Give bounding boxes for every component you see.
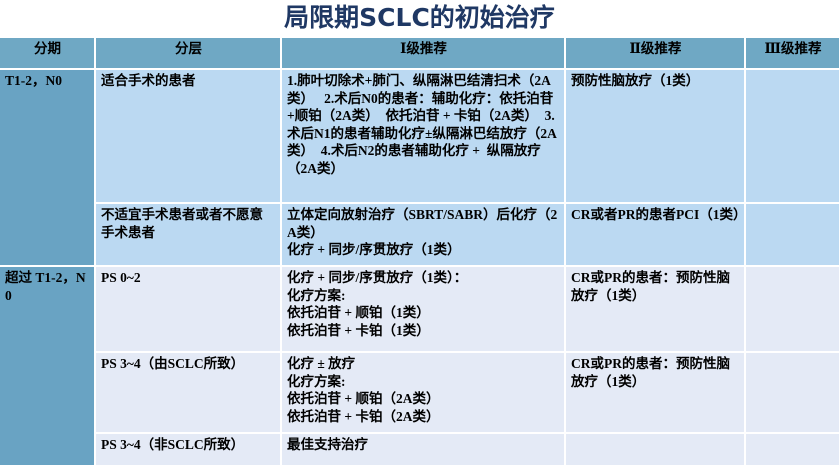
level2-text: CR或者PR的患者PCI（1类） — [571, 206, 740, 224]
level3-cell — [745, 266, 839, 352]
level3-cell — [745, 352, 839, 433]
stratum-cell: PS 0~2 — [95, 266, 281, 352]
level3-cell — [745, 203, 839, 266]
stratum-cell: PS 3~4（非SCLC所致） — [95, 433, 281, 466]
slide-page: 局限期SCLC的初始治疗 分期 分层 Ⅰ级推荐 Ⅱ级推荐 Ⅲ级推荐 T1-2，N… — [0, 0, 839, 463]
level2-text: CR或PR的患者：预防性脑放疗（1类） — [571, 269, 740, 304]
level1-text: 化疗 ± 放疗 化疗方案: 依托泊苷 + 顺铂（2A类） 依托泊苷 + 卡铂（2… — [287, 355, 560, 425]
stage-label: 超过 T1-2，N0 — [5, 269, 90, 304]
stratum-label: 适合手术的患者 — [101, 72, 276, 90]
stage-label: T1-2，N0 — [5, 72, 90, 90]
level1-cell: 化疗 + 同步/序贯放疗（1类）： 化疗方案: 依托泊苷 + 顺铂（1类） 依托… — [281, 266, 565, 352]
stratum-label: PS 0~2 — [101, 269, 276, 287]
column-header-level2: Ⅱ级推荐 — [565, 38, 745, 69]
table-row: PS 3~4（由SCLC所致） 化疗 ± 放疗 化疗方案: 依托泊苷 + 顺铂（… — [0, 352, 839, 433]
table-row: 超过 T1-2，N0 PS 0~2 化疗 + 同步/序贯放疗（1类）： 化疗方案… — [0, 266, 839, 352]
stratum-label: PS 3~4（非SCLC所致） — [101, 436, 276, 454]
stratum-label: 不适宜手术患者或者不愿意手术患者 — [101, 206, 276, 241]
level2-text: CR或PR的患者：预防性脑放疗（1类） — [571, 355, 740, 390]
page-title: 局限期SCLC的初始治疗 — [0, 0, 839, 38]
level2-cell: CR或者PR的患者PCI（1类） — [565, 203, 745, 266]
stratum-label: PS 3~4（由SCLC所致） — [101, 355, 276, 373]
stage-cell: T1-2，N0 — [0, 69, 95, 266]
stratum-cell: 适合手术的患者 — [95, 69, 281, 203]
level2-cell: CR或PR的患者：预防性脑放疗（1类） — [565, 352, 745, 433]
level1-cell: 化疗 ± 放疗 化疗方案: 依托泊苷 + 顺铂（2A类） 依托泊苷 + 卡铂（2… — [281, 352, 565, 433]
table-header-row: 分期 分层 Ⅰ级推荐 Ⅱ级推荐 Ⅲ级推荐 — [0, 38, 839, 69]
level2-cell: 预防性脑放疗（1类） — [565, 69, 745, 203]
level1-text: 化疗 + 同步/序贯放疗（1类）： 化疗方案: 依托泊苷 + 顺铂（1类） 依托… — [287, 269, 560, 339]
stratum-cell: 不适宜手术患者或者不愿意手术患者 — [95, 203, 281, 266]
level3-cell — [745, 69, 839, 203]
table-row: PS 3~4（非SCLC所致） 最佳支持治疗 — [0, 433, 839, 466]
stratum-cell: PS 3~4（由SCLC所致） — [95, 352, 281, 433]
level2-text: 预防性脑放疗（1类） — [571, 72, 740, 90]
level1-text: 最佳支持治疗 — [287, 436, 560, 454]
column-header-stage: 分期 — [0, 38, 95, 69]
level1-cell: 最佳支持治疗 — [281, 433, 565, 466]
column-header-level3: Ⅲ级推荐 — [745, 38, 839, 69]
level1-cell: 立体定向放射治疗（SBRT/SABR）后化疗（2A类） 化疗 + 同步/序贯放疗… — [281, 203, 565, 266]
column-header-level1: Ⅰ级推荐 — [281, 38, 565, 69]
level2-cell — [565, 433, 745, 466]
level2-cell: CR或PR的患者：预防性脑放疗（1类） — [565, 266, 745, 352]
column-header-stratum: 分层 — [95, 38, 281, 69]
level1-text: 立体定向放射治疗（SBRT/SABR）后化疗（2A类） 化疗 + 同步/序贯放疗… — [287, 206, 560, 259]
treatment-table: 分期 分层 Ⅰ级推荐 Ⅱ级推荐 Ⅲ级推荐 T1-2，N0 适合手术的患者 1.肺… — [0, 38, 839, 467]
table-row: 不适宜手术患者或者不愿意手术患者 立体定向放射治疗（SBRT/SABR）后化疗（… — [0, 203, 839, 266]
level1-text: 1.肺叶切除术+肺门、纵隔淋巴结清扫术（2A类） 2.术后N0的患者：辅助化疗：… — [287, 72, 560, 177]
level3-cell — [745, 433, 839, 466]
level1-cell: 1.肺叶切除术+肺门、纵隔淋巴结清扫术（2A类） 2.术后N0的患者：辅助化疗：… — [281, 69, 565, 203]
table-row: T1-2，N0 适合手术的患者 1.肺叶切除术+肺门、纵隔淋巴结清扫术（2A类）… — [0, 69, 839, 203]
stage-cell: 超过 T1-2，N0 — [0, 266, 95, 466]
